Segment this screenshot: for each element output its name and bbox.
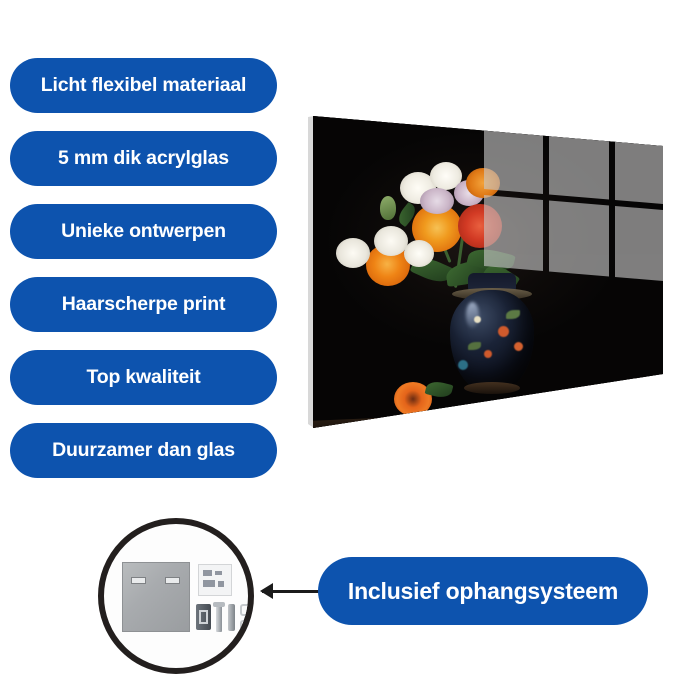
feature-badge-label: Top kwaliteit bbox=[86, 367, 200, 388]
artwork-flower-red bbox=[458, 204, 502, 248]
feature-badge-list: Licht flexibel materiaal 5 mm dik acrylg… bbox=[10, 58, 277, 496]
artwork-vase-decoration bbox=[474, 316, 481, 323]
artwork-still-life bbox=[308, 110, 668, 435]
mounting-plate-slot bbox=[131, 577, 146, 584]
artwork-vase-body bbox=[450, 290, 534, 392]
feature-badge-licht-flexibel-materiaal[interactable]: Licht flexibel materiaal bbox=[10, 58, 277, 113]
artwork-flower-lilac bbox=[420, 188, 454, 214]
feature-badge-label: Unieke ontwerpen bbox=[61, 221, 226, 242]
artwork-flower-orange bbox=[466, 168, 500, 198]
callout-badge-label: Inclusief ophangsysteem bbox=[348, 578, 618, 605]
spacer bbox=[240, 620, 254, 632]
leaflet-line bbox=[215, 571, 222, 575]
feature-badge-label: Haarscherpe print bbox=[62, 294, 226, 315]
artwork-flower-white bbox=[374, 226, 408, 256]
spacer bbox=[240, 604, 254, 616]
artwork-flower-white bbox=[404, 240, 434, 267]
feature-badge-label: Licht flexibel materiaal bbox=[41, 75, 246, 96]
artwork-vase-decoration bbox=[458, 360, 468, 370]
screw bbox=[216, 602, 222, 632]
feature-badge-haarscherpe-print[interactable]: Haarscherpe print bbox=[10, 277, 277, 332]
artwork-flower-bud bbox=[380, 196, 396, 220]
artwork-vase-highlight bbox=[466, 302, 479, 328]
feature-badge-label: Duurzamer dan glas bbox=[52, 440, 235, 461]
feature-badge-top-kwaliteit[interactable]: Top kwaliteit bbox=[10, 350, 277, 405]
callout-arrow-icon bbox=[262, 590, 320, 593]
artwork-clip bbox=[308, 110, 668, 435]
mounting-kit-circle[interactable] bbox=[98, 518, 254, 674]
feature-badge-duurzamer-dan-glas[interactable]: Duurzamer dan glas bbox=[10, 423, 277, 478]
leaflet-line bbox=[203, 580, 215, 587]
feature-badge-label: 5 mm dik acrylglas bbox=[58, 148, 229, 169]
leaflet-line bbox=[218, 581, 224, 587]
artwork-vase-decoration bbox=[498, 326, 509, 337]
mounting-plate bbox=[122, 562, 190, 632]
callout-badge-inclusief-ophangsysteem[interactable]: Inclusief ophangsysteem bbox=[318, 557, 648, 625]
artwork-vase-decoration bbox=[514, 342, 523, 351]
artwork-vase-foot bbox=[464, 382, 520, 394]
leaflet-line bbox=[203, 570, 212, 576]
artwork-flower-white bbox=[336, 238, 370, 268]
instruction-leaflet bbox=[198, 564, 232, 596]
artwork-vase-decoration bbox=[484, 350, 492, 358]
mounting-plate-slot bbox=[165, 577, 180, 584]
feature-badge-unieke-ontwerpen[interactable]: Unieke ontwerpen bbox=[10, 204, 277, 259]
wall-anchor bbox=[196, 604, 211, 630]
feature-badge-5-mm-dik-acrylglas[interactable]: 5 mm dik acrylglas bbox=[10, 131, 277, 186]
wall-plug bbox=[228, 604, 235, 631]
acrylic-panel-product-image[interactable] bbox=[308, 110, 668, 435]
